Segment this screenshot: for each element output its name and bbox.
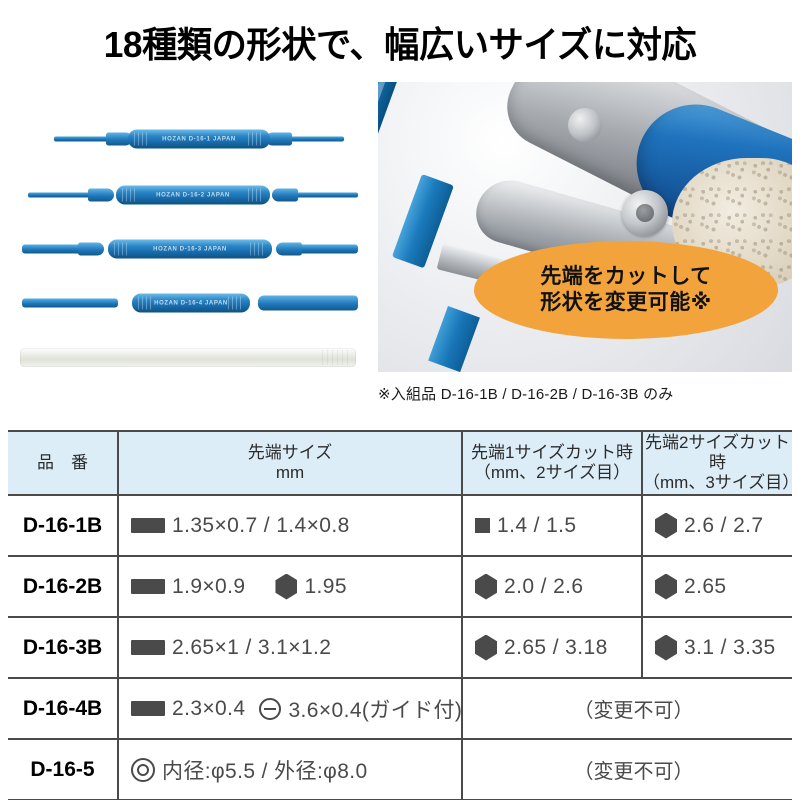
spec-table: 品 番 先端サイズ mm 先端1サイズカット時 （mm、2サイズ目） 先端2サイ… <box>8 430 792 800</box>
hexagon-icon <box>655 574 677 600</box>
header-tip-size-line2: mm <box>119 463 461 483</box>
header-cut2-line2: （mm、3サイズ目） <box>643 473 792 493</box>
rect-icon <box>131 518 165 533</box>
square-icon <box>475 518 490 533</box>
tool-taper-right <box>272 189 298 202</box>
cell-content: 1.35×0.7 / 1.4×0.8 <box>131 514 461 538</box>
header-part-no: 品 番 <box>8 431 118 495</box>
tool-sleeve <box>22 299 118 308</box>
spec-table-body: D-16-1B1.35×0.7 / 1.4×0.81.4 / 1.52.6 / … <box>8 495 792 800</box>
part-number-cell: D-16-2B <box>8 556 118 617</box>
header-tip-size: 先端サイズ mm <box>118 431 462 495</box>
table-row: D-16-4B2.3×0.43.6×0.4(ガイド付)（変更不可） <box>8 678 792 739</box>
measurement-value: 1.35×0.7 / 1.4×0.8 <box>172 514 350 538</box>
tool-taper-right <box>258 296 358 311</box>
part-number-cell: D-16-4B <box>8 678 118 739</box>
cell-content: 1.4 / 1.5 <box>475 514 641 538</box>
tool-brand-label: HOZAN D-16-3 JAPAN <box>108 246 272 252</box>
cell-content: 2.6 / 2.7 <box>655 513 792 539</box>
tip-size-cell: 2.3×0.43.6×0.4(ガイド付) <box>118 678 462 739</box>
table-row: D-16-2B1.9×0.91.952.0 / 2.62.65 <box>8 556 792 617</box>
cell-content: 2.65×1 / 3.1×1.2 <box>131 636 461 660</box>
tool-grip: HOZAN D-16-3 JAPAN <box>108 240 272 259</box>
not-changeable-cell: （変更不可） <box>462 678 792 739</box>
nipper-pivot-screw <box>622 190 668 236</box>
header-cut1: 先端1サイズカット時 （mm、2サイズ目） <box>462 431 642 495</box>
tool-taper-right <box>276 243 302 256</box>
part-number-cell: D-16-3B <box>8 617 118 678</box>
cell-content: 2.65 <box>655 574 792 600</box>
product-spec-page: 18種類の形状で、幅広いサイズに対応 HOZAN D-16-1 JAPAN HO… <box>0 0 800 800</box>
cut1-cell: 2.0 / 2.6 <box>462 556 642 617</box>
callout-bubble: 先端をカットして 形状を変更可能※ <box>474 241 778 339</box>
tool-brand-label: HOZAN D-16-2 JAPAN <box>116 192 270 198</box>
product-tool-1: HOZAN D-16-1 JAPAN <box>54 126 344 152</box>
cut1-cell: 1.4 / 1.5 <box>462 495 642 556</box>
double-circle-icon <box>131 758 155 782</box>
cut1-cell: 2.65 / 3.18 <box>462 617 642 678</box>
measurement-value: 2.65×1 / 3.1×1.2 <box>172 636 331 660</box>
tip-size-cell: 2.65×1 / 3.1×1.2 <box>118 617 462 678</box>
header-cut1-line2: （mm、2サイズ目） <box>463 463 641 483</box>
tool-grip: HOZAN D-16-1 JAPAN <box>128 130 270 149</box>
part-number-cell: D-16-1B <box>8 495 118 556</box>
cell-content: 2.3×0.43.6×0.4(ガイド付) <box>131 694 461 724</box>
table-row: D-16-5内径:φ5.5 / 外径:φ8.0（変更不可） <box>8 739 792 800</box>
cut2-cell: 2.6 / 2.7 <box>642 495 792 556</box>
hexagon-icon <box>275 574 297 600</box>
tip-size-cell: 内径:φ5.5 / 外径:φ8.0 <box>118 739 462 800</box>
product-tool-4: HOZAN D-16-4 JAPAN <box>22 290 358 316</box>
hexagon-icon <box>475 574 497 600</box>
measurement-value: 1.4 / 1.5 <box>497 514 577 538</box>
header-row: 品 番 先端サイズ mm 先端1サイズカット時 （mm、2サイズ目） 先端2サイ… <box>8 431 792 495</box>
not-changeable-cell: （変更不可） <box>462 739 792 800</box>
header-cut1-line1: 先端1サイズカット時 <box>463 443 641 463</box>
tool-brand-label: HOZAN D-16-4 JAPAN <box>132 300 250 306</box>
cell-content: 内径:φ5.5 / 外径:φ8.0 <box>131 755 461 785</box>
tool-brand-label: HOZAN D-16-1 JAPAN <box>128 136 270 142</box>
measurement-value: 2.6 / 2.7 <box>684 514 764 538</box>
measurement-value: 2.0 / 2.6 <box>504 575 584 599</box>
tool-taper-left <box>78 243 104 256</box>
part-number-cell: D-16-5 <box>8 739 118 800</box>
cut2-cell: 2.65 <box>642 556 792 617</box>
tool-taper-left <box>88 189 114 202</box>
rect-icon <box>131 701 165 716</box>
measurement-value: 3.1 / 3.35 <box>684 636 776 660</box>
cell-content: 2.65 / 3.18 <box>475 635 641 661</box>
measurement-value: 内径:φ5.5 / 外径:φ8.0 <box>162 755 368 785</box>
hexagon-icon <box>655 635 677 661</box>
footnote-text: ※入組品 D-16-1B / D-16-2B / D-16-3B のみ <box>378 383 673 404</box>
product-tube-d16-5 <box>20 348 356 367</box>
spec-table-header: 品 番 先端サイズ mm 先端1サイズカット時 （mm、2サイズ目） 先端2サイ… <box>8 431 792 495</box>
slot-icon <box>259 698 281 720</box>
header-cut2-line1: 先端2サイズカット時 <box>643 433 792 473</box>
measurement-value: 2.65 <box>684 575 726 599</box>
measurement-value: 2.3×0.4 <box>172 697 245 721</box>
cell-content: 1.9×0.91.95 <box>131 574 461 600</box>
product-tool-2: HOZAN D-16-2 JAPAN <box>28 182 358 208</box>
table-row: D-16-3B2.65×1 / 3.1×1.22.65 / 3.183.1 / … <box>8 617 792 678</box>
measurement-value: 1.9×0.9 <box>172 575 245 599</box>
callout-line-1: 先端をカットして <box>540 264 711 290</box>
measurement-value: 2.65 / 3.18 <box>504 636 608 660</box>
cut2-cell: 3.1 / 3.35 <box>642 617 792 678</box>
header-tip-size-line1: 先端サイズ <box>119 443 461 463</box>
table-row: D-16-1B1.35×0.7 / 1.4×0.81.4 / 1.52.6 / … <box>8 495 792 556</box>
hexagon-icon <box>655 513 677 539</box>
rect-icon <box>131 640 165 655</box>
product-tool-3: HOZAN D-16-3 JAPAN <box>22 236 358 262</box>
measurement-value: 3.6×0.4(ガイド付) <box>288 694 462 724</box>
nipper-rivet-upper <box>568 108 602 142</box>
product-image-group: HOZAN D-16-1 JAPAN HOZAN D-16-2 JAPAN HO… <box>14 112 370 382</box>
tip-size-cell: 1.35×0.7 / 1.4×0.8 <box>118 495 462 556</box>
tool-grip: HOZAN D-16-4 JAPAN <box>132 294 250 313</box>
hexagon-icon <box>475 635 497 661</box>
measurement-value: 1.95 <box>304 575 346 599</box>
rect-icon <box>131 579 165 594</box>
page-title: 18種類の形状で、幅広いサイズに対応 <box>8 16 792 68</box>
callout-line-2: 形状を変更可能※ <box>540 290 711 316</box>
tip-size-cell: 1.9×0.91.95 <box>118 556 462 617</box>
cell-content: 3.1 / 3.35 <box>655 635 792 661</box>
cell-content: 2.0 / 2.6 <box>475 574 641 600</box>
header-cut2: 先端2サイズカット時 （mm、3サイズ目） <box>642 431 792 495</box>
tool-grip: HOZAN D-16-2 JAPAN <box>116 186 270 205</box>
